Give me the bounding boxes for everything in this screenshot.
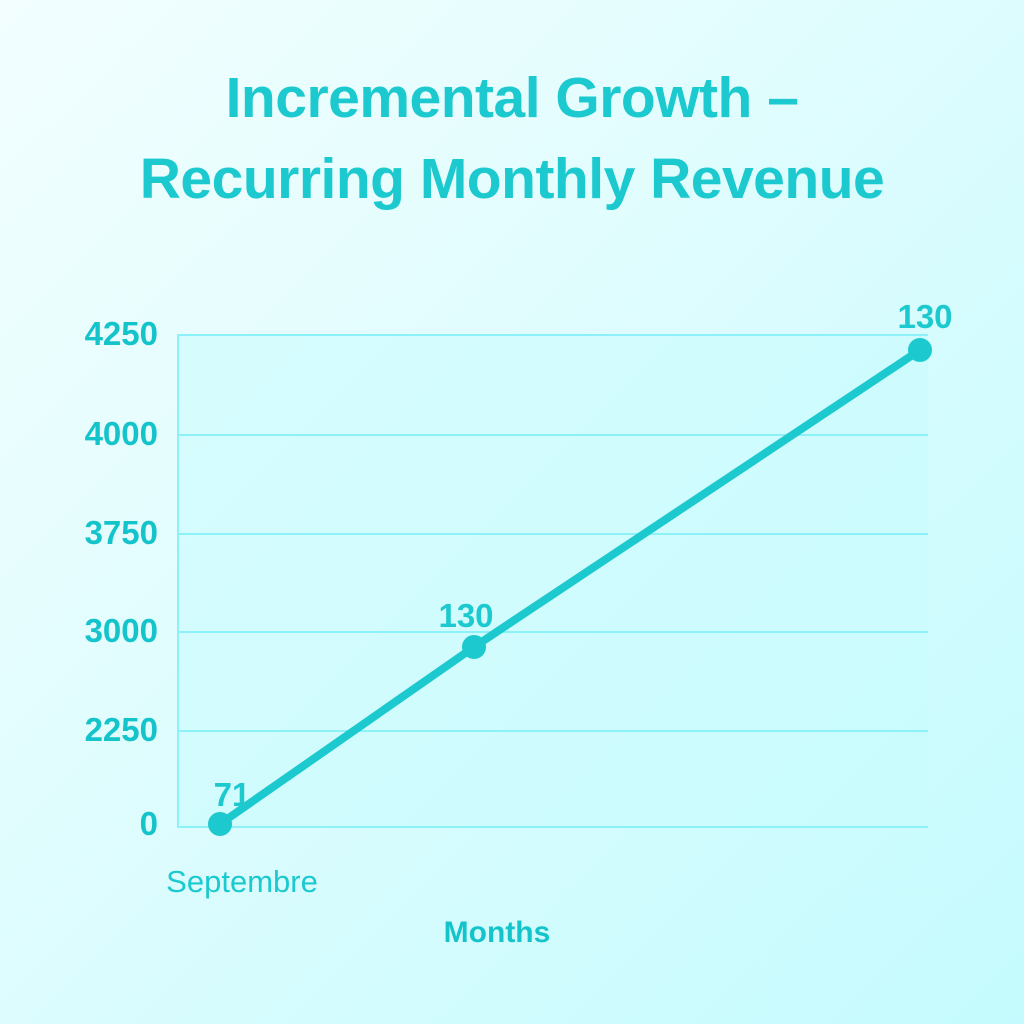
y-axis-spine: [177, 334, 179, 828]
gridline-0: [177, 826, 928, 828]
gridline-3000: [177, 631, 928, 633]
x-tick-label: Septembre: [166, 864, 318, 900]
data-point-label: 130: [438, 597, 493, 635]
x-axis-title: Months: [444, 916, 551, 950]
gridline-4250: [177, 334, 928, 336]
chart-container: Incremental Growth – Recurring Monthly R…: [0, 0, 1024, 1024]
y-tick-label: 3000: [85, 612, 158, 650]
y-tick-label: 0: [140, 805, 158, 843]
data-point-label: 71: [214, 776, 251, 814]
plot-area: [177, 334, 928, 828]
gridline-2250: [177, 730, 928, 732]
chart-title: Incremental Growth – Recurring Monthly R…: [0, 58, 1024, 220]
y-tick-label: 4250: [85, 315, 158, 353]
y-tick-label: 2250: [85, 711, 158, 749]
gridline-4000: [177, 434, 928, 436]
data-point-label: 130: [897, 298, 952, 336]
gridline-3750: [177, 533, 928, 535]
y-tick-label: 3750: [85, 514, 158, 552]
y-tick-label: 4000: [85, 415, 158, 453]
